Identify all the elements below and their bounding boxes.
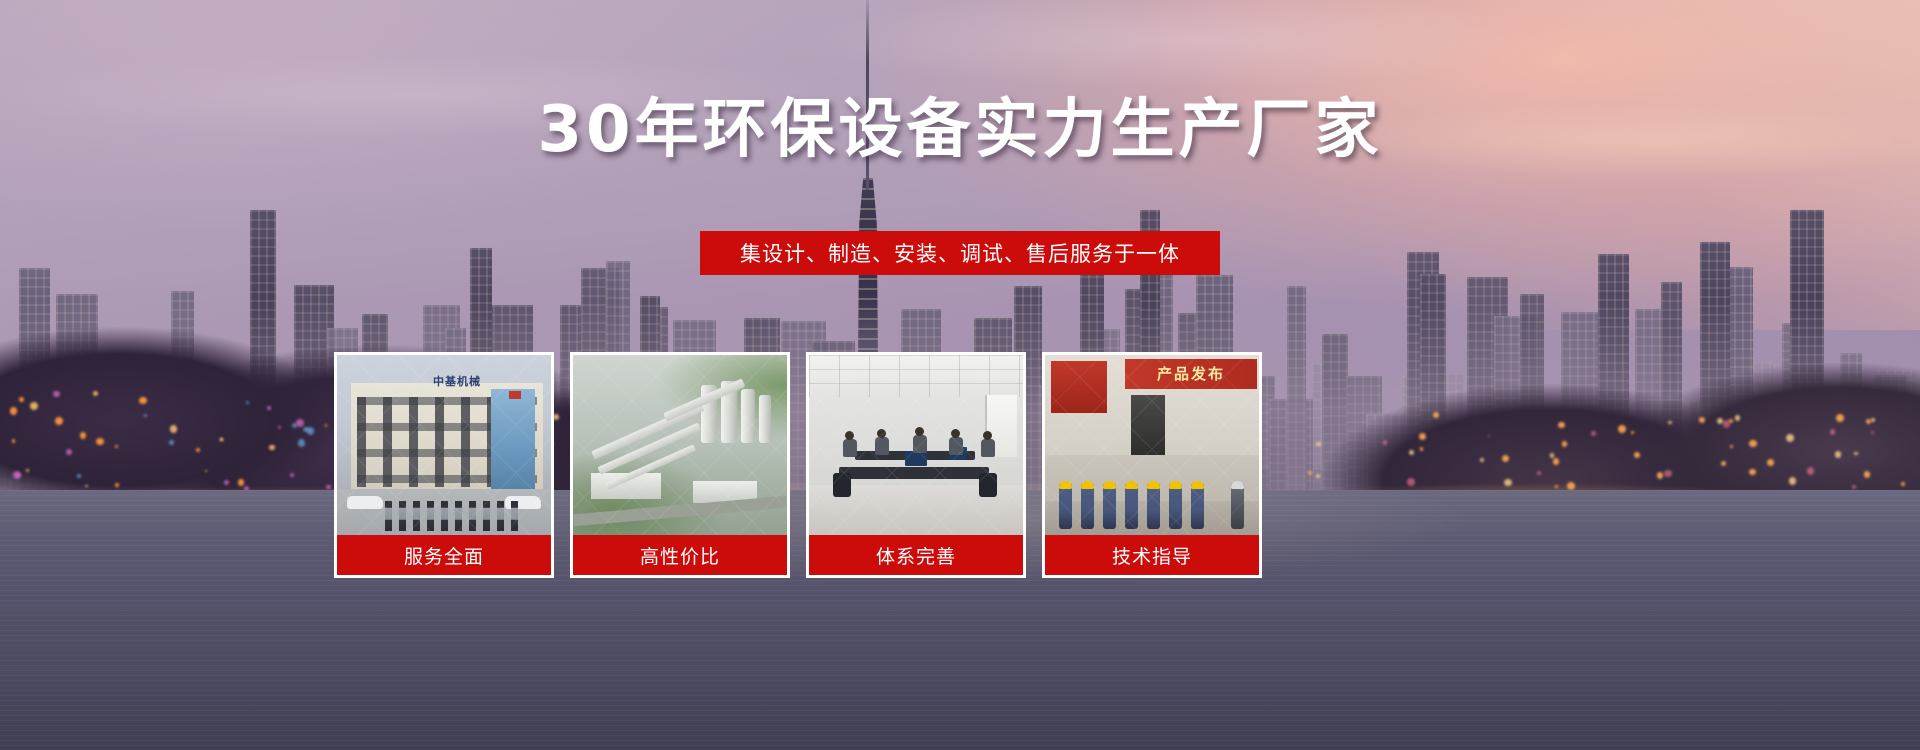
card-photo-industrial-plant — [573, 355, 787, 535]
card-label: 体系完善 — [809, 535, 1023, 575]
feature-card[interactable]: 高性价比 — [570, 352, 790, 578]
feature-card[interactable]: 体系完善 — [806, 352, 1026, 578]
card-photo-workshop-workers: 产品发布 — [1045, 355, 1259, 535]
building-sign-text: 中基机械 — [415, 375, 499, 388]
card-photo-office-building: 中基机械 — [337, 355, 551, 535]
banner-subtitle-text: 集设计、制造、安装、调试、售后服务于一体 — [740, 238, 1180, 268]
hero-banner: 30年环保设备实力生产厂家 集设计、制造、安装、调试、售后服务于一体 中基机械 — [0, 0, 1920, 750]
banner-headline: 30年环保设备实力生产厂家 — [0, 98, 1920, 162]
workshop-banner-text: 产品发布 — [1125, 359, 1257, 389]
card-label: 高性价比 — [573, 535, 787, 575]
card-label: 技术指导 — [1045, 535, 1259, 575]
card-label: 服务全面 — [337, 535, 551, 575]
banner-subtitle-bar: 集设计、制造、安装、调试、售后服务于一体 — [700, 231, 1220, 275]
feature-card[interactable]: 产品发布 技术指导 — [1042, 352, 1262, 578]
card-photo-office-interior — [809, 355, 1023, 535]
feature-card[interactable]: 中基机械 服务全面 — [334, 352, 554, 578]
feature-card-row: 中基机械 服务全面 — [334, 352, 1586, 578]
